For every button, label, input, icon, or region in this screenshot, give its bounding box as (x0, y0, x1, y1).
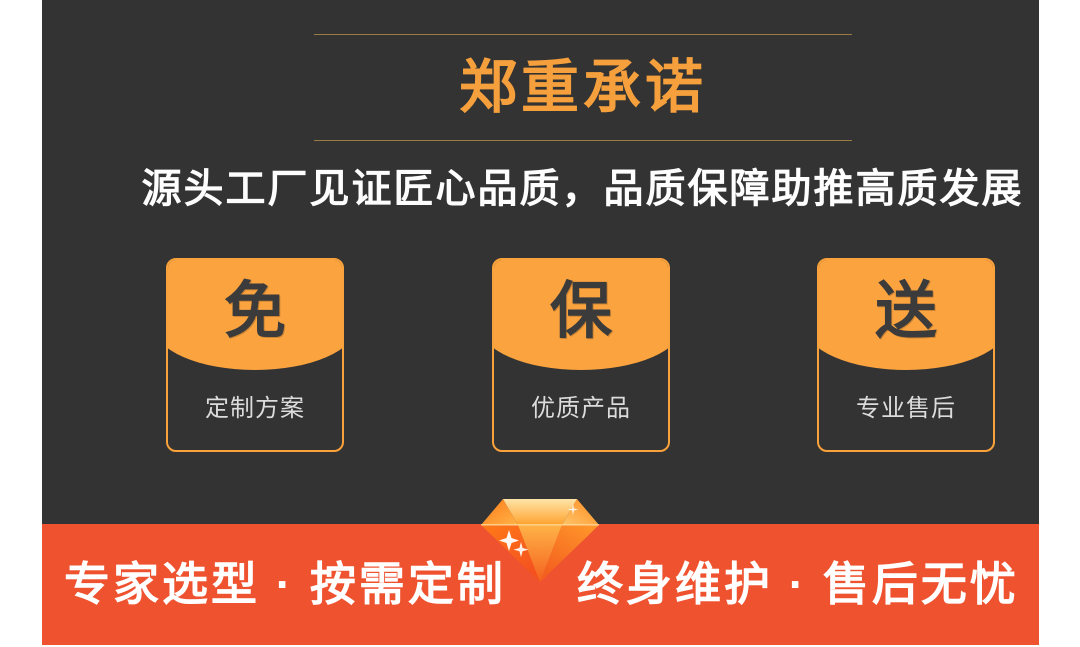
card-glyph: 送 (819, 276, 993, 348)
card-label: 定制方案 (168, 394, 342, 424)
title-rule-top (314, 34, 852, 35)
banner-text-right: 终身维护 · 售后无忧 (577, 551, 1017, 617)
promise-card-quality-guarantee[interactable]: 保 优质产品 (492, 258, 670, 452)
promise-card-list: 免 定制方案 保 优质产品 送 专业售后 (84, 258, 1039, 452)
hero-panel: 郑重承诺 源头工厂见证匠心品质，品质保障助推高质发展 免 定制方案 保 优质产品… (42, 0, 1039, 524)
page-subtitle: 源头工厂见证匠心品质，品质保障助推高质发展 (84, 158, 1039, 220)
promise-banner-graphic: 郑重承诺 源头工厂见证匠心品质，品质保障助推高质发展 免 定制方案 保 优质产品… (0, 0, 1080, 647)
card-glyph: 免 (168, 276, 342, 348)
banner-text-left: 专家选型 · 按需定制 (64, 551, 504, 617)
card-label: 专业售后 (819, 394, 993, 424)
card-glyph: 保 (494, 276, 668, 348)
diamond-icon (481, 492, 599, 584)
promise-card-free-customization[interactable]: 免 定制方案 (166, 258, 344, 452)
card-label: 优质产品 (494, 394, 668, 424)
page-title: 郑重承诺 (314, 44, 852, 132)
promise-card-after-sales-service[interactable]: 送 专业售后 (817, 258, 995, 452)
title-rule-bottom (314, 140, 852, 141)
